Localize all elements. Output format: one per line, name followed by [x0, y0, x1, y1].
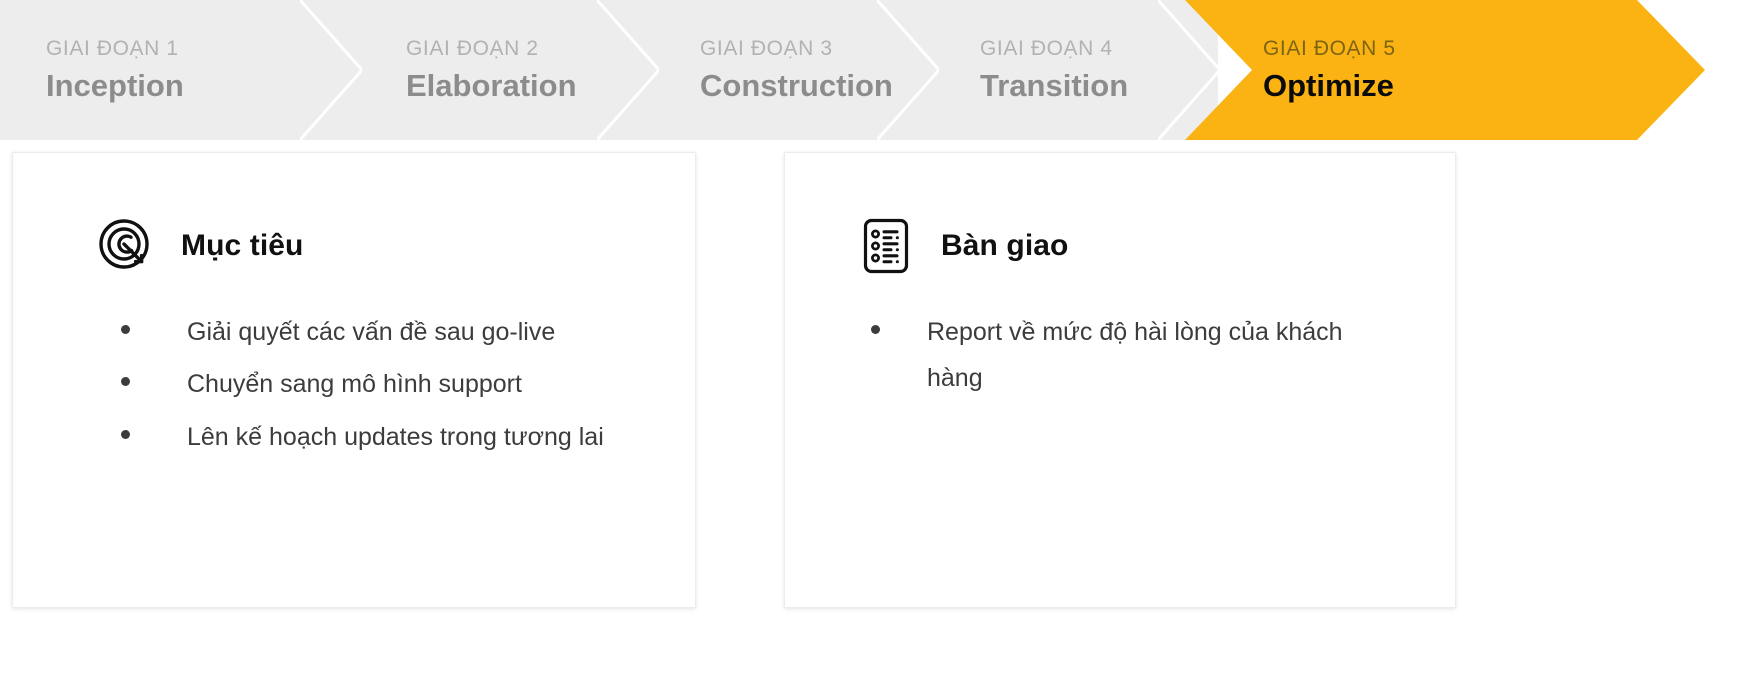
- stage-item-construction[interactable]: GIAI ĐOẠN 3 Construction: [657, 0, 937, 140]
- target-bullseye-icon: [97, 217, 155, 275]
- bullet-dot-icon: [121, 430, 130, 439]
- list-item-text: Lên kế hoạch updates trong tương lai: [187, 414, 661, 460]
- list-item-text: Chuyển sang mô hình support: [187, 361, 661, 407]
- stage-kicker: GIAI ĐOẠN 3: [700, 37, 937, 60]
- stage-kicker: GIAI ĐOẠN 5: [1263, 37, 1705, 60]
- list-item: Lên kế hoạch updates trong tương lai: [121, 414, 661, 460]
- card-deliverable: Bàn giao Report về mức độ hài lòng của k…: [784, 152, 1456, 608]
- stage-kicker: GIAI ĐOẠN 1: [46, 37, 360, 60]
- bullet-dot-icon: [121, 377, 130, 386]
- list-item-text: Giải quyết các vấn đề sau go-live: [187, 309, 661, 355]
- card-goal: Mục tiêu Giải quyết các vấn đề sau go-li…: [12, 152, 696, 608]
- stage-item-elaboration[interactable]: GIAI ĐOẠN 2 Elaboration: [360, 0, 657, 140]
- card-deliverable-title: Bàn giao: [941, 229, 1068, 263]
- stage-name: Transition: [980, 69, 1218, 103]
- list-item: Report về mức độ hài lòng của khách hàng: [871, 309, 1391, 402]
- stage-kicker: GIAI ĐOẠN 2: [406, 37, 657, 60]
- stage-item-transition[interactable]: GIAI ĐOẠN 4 Transition: [937, 0, 1218, 140]
- card-deliverable-header: Bàn giao: [857, 217, 1455, 275]
- stage-name: Inception: [46, 69, 360, 103]
- stage-name: Elaboration: [406, 69, 657, 103]
- list-item-text: Report về mức độ hài lòng của khách hàng: [927, 309, 1391, 402]
- card-goal-header: Mục tiêu: [97, 217, 695, 275]
- checklist-document-icon: [857, 217, 915, 275]
- list-item: Chuyển sang mô hình support: [121, 361, 661, 407]
- list-item: Giải quyết các vấn đề sau go-live: [121, 309, 661, 355]
- stage-name: Optimize: [1263, 69, 1705, 103]
- bullet-dot-icon: [871, 325, 880, 334]
- card-goal-title: Mục tiêu: [181, 229, 303, 263]
- stage-item-inception[interactable]: GIAI ĐOẠN 1 Inception: [0, 0, 360, 140]
- bullet-dot-icon: [121, 325, 130, 334]
- stage-item-optimize[interactable]: GIAI ĐOẠN 5 Optimize: [1185, 0, 1705, 140]
- stage-name: Construction: [700, 69, 937, 103]
- card-goal-bullet-list: Giải quyết các vấn đề sau go-live Chuyển…: [121, 309, 661, 460]
- card-deliverable-bullet-list: Report về mức độ hài lòng của khách hàng: [871, 309, 1391, 402]
- stage-kicker: GIAI ĐOẠN 4: [980, 37, 1218, 60]
- stage-progress-bar: GIAI ĐOẠN 1 Inception GIAI ĐOẠN 2 Elabor…: [0, 0, 1752, 140]
